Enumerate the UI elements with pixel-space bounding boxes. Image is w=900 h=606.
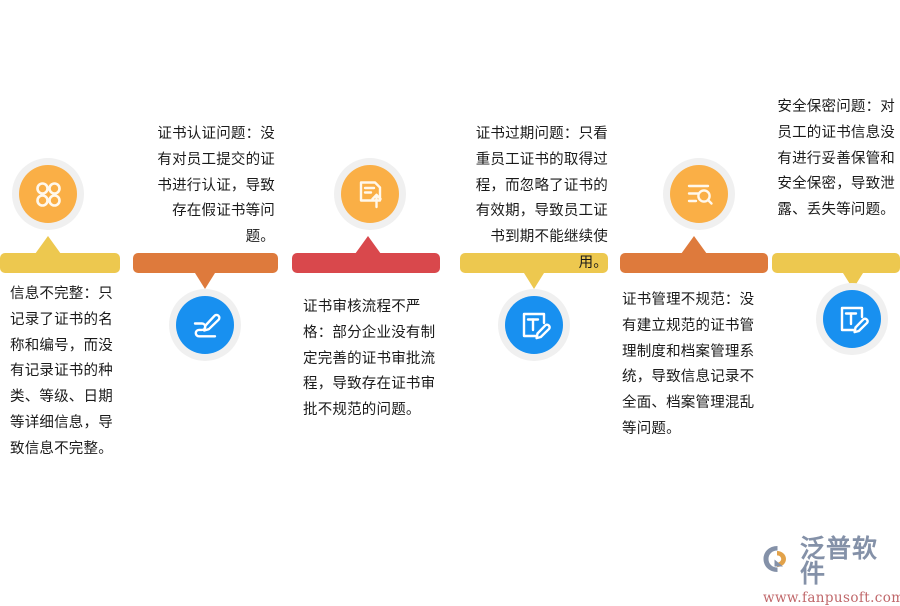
item-text-1: 信息不完整：只记录了证书的名称和编号，而没有记录证书的种类、等级、日期等详细信息… bbox=[10, 282, 118, 463]
timeline-bar-6 bbox=[772, 253, 900, 273]
icon-badge-5[interactable] bbox=[663, 158, 735, 230]
item-text-5: 证书管理不规范：没有建立规范的证书管理制度和档案管理系统，导致信息记录不全面、档… bbox=[622, 288, 759, 443]
timeline-pointer-up-3 bbox=[355, 236, 381, 254]
list-search-icon bbox=[682, 177, 716, 211]
item-text-3: 证书审核流程不严格：部分企业没有制定完善的证书审批流程，导致存在证书审批不规范的… bbox=[303, 295, 440, 424]
timeline-pointer-up-5 bbox=[681, 236, 707, 254]
item-text-2: 证书认证问题：没有对员工提交的证书进行认证，导致存在假证书等问题。 bbox=[144, 122, 275, 251]
signature-pen-icon bbox=[187, 307, 223, 343]
timeline-bar-3 bbox=[292, 253, 440, 273]
text-document-edit-icon bbox=[517, 308, 551, 342]
watermark-logo: 泛普软件 www.fanpusoft.com bbox=[762, 536, 894, 592]
icon-badge-1[interactable] bbox=[12, 158, 84, 230]
timeline-bar-2 bbox=[133, 253, 278, 273]
icon-badge-3[interactable] bbox=[334, 158, 406, 230]
timeline-bar-5 bbox=[620, 253, 768, 273]
icon-badge-2[interactable] bbox=[169, 289, 241, 361]
timeline-bar-1 bbox=[0, 253, 120, 273]
item-text-4: 证书过期问题：只看重员工证书的取得过程，而忽略了证书的有效期，导致员工证书到期不… bbox=[466, 122, 608, 277]
infographic-canvas: 信息不完整：只记录了证书的名称和编号，而没有记录证书的种类、等级、日期等详细信息… bbox=[0, 0, 900, 600]
four-dots-grid-icon bbox=[31, 177, 65, 211]
document-upload-icon bbox=[353, 177, 387, 211]
icon-badge-6[interactable] bbox=[816, 283, 888, 355]
timeline-pointer-down-2 bbox=[195, 273, 215, 289]
fanpu-logo-mark-icon bbox=[762, 544, 796, 578]
text-document-edit-icon bbox=[835, 302, 869, 336]
item-text-6: 安全保密问题：对员工的证书信息没有进行妥善保管和安全保密，导致泄露、丢失等问题。 bbox=[775, 95, 895, 224]
icon-badge-4[interactable] bbox=[498, 289, 570, 361]
timeline-pointer-up-1 bbox=[35, 236, 61, 254]
brand-url: www.fanpusoft.com bbox=[763, 590, 900, 606]
brand-name: 泛普软件 bbox=[800, 536, 894, 586]
